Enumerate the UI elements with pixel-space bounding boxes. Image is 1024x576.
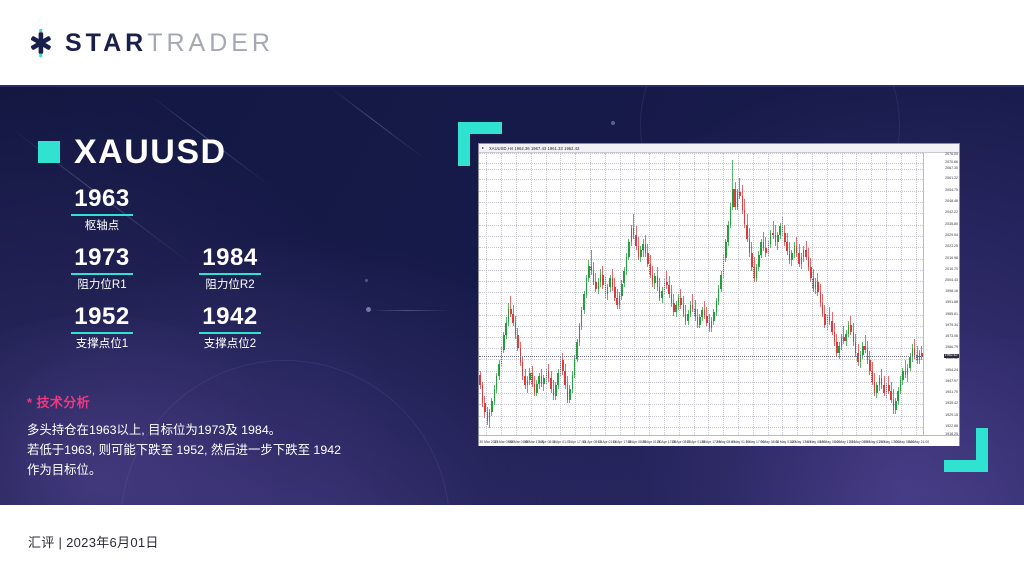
candle-body bbox=[732, 189, 734, 207]
candle-body bbox=[789, 251, 791, 260]
candle-body bbox=[786, 242, 788, 251]
candle-body bbox=[673, 303, 675, 312]
candle-body bbox=[598, 282, 600, 289]
candle-body bbox=[772, 233, 774, 235]
price-axis-tick: 1929.15 bbox=[945, 414, 958, 418]
candle-body bbox=[822, 303, 824, 314]
candle-body bbox=[510, 309, 512, 314]
technical-analysis-line-1: 多头持仓在1963以上, 目标位为1973及 1984。 bbox=[27, 420, 427, 440]
candle-body bbox=[794, 246, 796, 253]
candle-body bbox=[850, 325, 852, 332]
brand-wordmark: STARTRADER bbox=[65, 31, 274, 56]
candle-body bbox=[517, 335, 519, 348]
candle-body bbox=[671, 294, 673, 303]
candle-body bbox=[845, 334, 847, 341]
candle-body bbox=[482, 385, 484, 403]
time-axis-tick: 31 May 21:00 bbox=[909, 441, 930, 444]
candle-body bbox=[874, 382, 876, 393]
pivot-value: 1942 bbox=[166, 304, 294, 329]
time-axis: 30 Mar 202331 Mar 08:003A Mar 01:003B Ma… bbox=[479, 435, 959, 446]
gridline-vertical bbox=[753, 153, 754, 435]
candle-body bbox=[638, 246, 640, 257]
candle-body bbox=[567, 385, 569, 399]
candle-body bbox=[734, 189, 736, 207]
bg-dot-3 bbox=[611, 121, 615, 125]
chart-titlebar: XAUUSD,H4 1962.36 1967.43 1961.33 1962.4… bbox=[479, 144, 959, 153]
candle-wick bbox=[829, 307, 830, 325]
symbol-name: XAUUSD bbox=[74, 135, 227, 169]
price-axis-tick: 1979.34 bbox=[945, 324, 958, 328]
candle-body bbox=[623, 271, 625, 284]
square-marker-icon bbox=[38, 141, 60, 163]
candle-body bbox=[583, 294, 585, 310]
pivot-cell-r2: 1984 阻力位R2 bbox=[166, 245, 294, 293]
candle-body bbox=[808, 257, 810, 268]
pivot-row-main: 1963 枢轴点 bbox=[38, 186, 338, 234]
candle-body bbox=[765, 248, 767, 253]
gridline-vertical bbox=[886, 153, 887, 435]
candle-body bbox=[631, 228, 633, 242]
price-axis-tick: 1991.88 bbox=[945, 301, 958, 305]
candle-body bbox=[760, 242, 762, 255]
candle-body bbox=[538, 376, 540, 383]
price-axis-tick: 2029.54 bbox=[945, 234, 958, 238]
candle-body bbox=[496, 376, 498, 389]
candle-body bbox=[527, 380, 529, 385]
price-axis-tick: 1954.24 bbox=[945, 369, 958, 373]
price-axis-tick: 1966.79 bbox=[945, 346, 958, 350]
candle-body bbox=[881, 378, 883, 385]
candle-body bbox=[730, 207, 732, 225]
candle-body bbox=[883, 385, 885, 392]
candle-body bbox=[555, 385, 557, 396]
gridline-vertical bbox=[812, 153, 813, 435]
price-axis-tick: 2004.43 bbox=[945, 279, 958, 283]
candle-body bbox=[749, 239, 751, 253]
candle-body bbox=[820, 292, 822, 303]
candle-body bbox=[479, 375, 481, 386]
candle-body bbox=[564, 371, 566, 385]
gridline-vertical bbox=[486, 153, 487, 435]
brand-name-light: TRADER bbox=[147, 29, 274, 57]
chart-plot-wrap: 2076.002070.662067.302061.222054.752048.… bbox=[479, 153, 959, 446]
candle-body bbox=[543, 378, 545, 383]
gridline-vertical bbox=[620, 153, 621, 435]
price-axis-tick: 2042.22 bbox=[945, 211, 958, 215]
price-axis-tick: 1922.88 bbox=[945, 425, 958, 429]
candle-body bbox=[690, 305, 692, 314]
candle-body bbox=[779, 226, 781, 235]
gridline-vertical bbox=[531, 153, 532, 435]
candle-body bbox=[746, 225, 748, 239]
price-axis-tick: 2070.66 bbox=[945, 161, 958, 165]
candle-body bbox=[505, 323, 507, 336]
candle-body bbox=[798, 253, 800, 264]
candle-body bbox=[727, 225, 729, 243]
candle-body bbox=[775, 235, 777, 242]
gridline-vertical bbox=[501, 153, 502, 435]
candle-body bbox=[614, 287, 616, 298]
candle-body bbox=[657, 276, 659, 287]
candle-body bbox=[661, 291, 663, 298]
candle-body bbox=[907, 368, 909, 375]
price-axis-tick: 2010.70 bbox=[945, 268, 958, 272]
candle-body bbox=[687, 314, 689, 321]
candle-body bbox=[834, 332, 836, 343]
candle-wick bbox=[865, 335, 866, 353]
candle-body bbox=[600, 275, 602, 282]
price-axis-tick: 2048.48 bbox=[945, 200, 958, 204]
candle-body bbox=[642, 244, 644, 249]
candle-body bbox=[824, 314, 826, 325]
pivot-label: 支撑点位2 bbox=[166, 338, 294, 352]
candle-body bbox=[621, 284, 623, 297]
technical-analysis: * 技术分析 多头持仓在1963以上, 目标位为1973及 1984。 若低于1… bbox=[27, 392, 427, 480]
candle-body bbox=[697, 317, 699, 324]
bg-streak-3 bbox=[330, 87, 426, 160]
gridline-vertical bbox=[679, 153, 680, 435]
price-axis-tick: 1941.70 bbox=[945, 391, 958, 395]
price-axis-tick: 1985.61 bbox=[945, 313, 958, 317]
gridline-vertical bbox=[708, 153, 709, 435]
price-axis-tick: 2061.22 bbox=[945, 177, 958, 181]
candle-body bbox=[744, 210, 746, 224]
candle-body bbox=[763, 242, 765, 247]
candle-body bbox=[593, 271, 595, 282]
candle-body bbox=[711, 321, 713, 328]
pivot-cell-s2: 1942 支撑点位2 bbox=[166, 304, 294, 352]
technical-analysis-line-3: 作为目标位。 bbox=[27, 460, 427, 480]
technical-analysis-title: * 技术分析 bbox=[27, 392, 427, 411]
candle-body bbox=[524, 376, 526, 385]
price-axis-tick: 1973.06 bbox=[945, 335, 958, 339]
candle-body bbox=[831, 321, 833, 332]
candle-body bbox=[890, 391, 892, 400]
candle-body bbox=[718, 289, 720, 302]
pivot-row-support: 1952 支撑点位1 1942 支撑点位2 bbox=[38, 304, 338, 352]
candle-body bbox=[699, 317, 701, 324]
candle-body bbox=[725, 242, 727, 258]
gridline-vertical bbox=[634, 153, 635, 435]
candle-body bbox=[864, 346, 866, 350]
candle-body bbox=[701, 310, 703, 317]
candle-body bbox=[720, 275, 722, 289]
gridline-vertical bbox=[723, 153, 724, 435]
candle-body bbox=[791, 253, 793, 260]
price-axis-tick: 2054.75 bbox=[945, 189, 958, 193]
candle-body bbox=[557, 373, 559, 386]
candle-body bbox=[897, 391, 899, 402]
pivot-value: 1963 bbox=[38, 186, 166, 211]
page-footer: 汇评 | 2023年6月01日 bbox=[0, 505, 1024, 576]
candle-body bbox=[548, 371, 550, 378]
candle-body bbox=[534, 384, 536, 393]
candle-body bbox=[609, 278, 611, 287]
candle-body bbox=[879, 378, 881, 385]
price-chart-panel[interactable]: XAUUSD,H4 1962.36 1967.43 1961.33 1962.4… bbox=[478, 143, 960, 446]
candle-body bbox=[704, 310, 706, 315]
candle-body bbox=[895, 401, 897, 410]
brand-name-bold: STAR bbox=[65, 29, 147, 57]
pivot-cell-pivot: 1963 枢轴点 bbox=[38, 186, 166, 234]
pivot-row-resistance: 1973 阻力位R1 1984 阻力位R2 bbox=[38, 245, 338, 293]
candle-body bbox=[683, 305, 685, 314]
bg-dot-1 bbox=[366, 307, 371, 312]
gridline-vertical bbox=[768, 153, 769, 435]
gridline-vertical bbox=[560, 153, 561, 435]
pivot-cell-r1: 1973 阻力位R1 bbox=[38, 245, 166, 293]
gridline-vertical bbox=[797, 153, 798, 435]
candle-body bbox=[522, 362, 524, 376]
price-axis-tick: 2076.00 bbox=[945, 153, 958, 157]
candle-body bbox=[635, 235, 637, 246]
candle-body bbox=[848, 325, 850, 334]
candle-body bbox=[645, 244, 647, 253]
pivot-label: 阻力位R2 bbox=[166, 279, 294, 293]
price-axis-tick: 1947.97 bbox=[945, 380, 958, 384]
collapse-triangle-icon[interactable] bbox=[482, 147, 484, 149]
candle-body bbox=[595, 282, 597, 289]
candle-body bbox=[801, 257, 803, 264]
pivot-underline bbox=[199, 273, 261, 275]
technical-analysis-line-2: 若低于1963, 则可能下跌至 1952, 然后进一步下跌至 1942 bbox=[27, 440, 427, 460]
star-asterisk-icon bbox=[26, 28, 56, 58]
candle-body bbox=[770, 233, 772, 244]
current-price-label: 1962.42 bbox=[944, 354, 959, 359]
candle-body bbox=[640, 250, 642, 257]
candle-body bbox=[853, 332, 855, 343]
gridline-vertical bbox=[782, 153, 783, 435]
gridline-vertical bbox=[901, 153, 902, 435]
candle-body bbox=[909, 357, 911, 368]
candle-body bbox=[616, 298, 618, 305]
candlestick-plot[interactable] bbox=[479, 153, 923, 435]
bg-streak-4 bbox=[372, 310, 450, 311]
candle-body bbox=[815, 282, 817, 289]
candle-body bbox=[666, 282, 668, 286]
price-axis: 2076.002070.662067.302061.222054.752048.… bbox=[923, 153, 959, 435]
candle-body bbox=[675, 305, 677, 312]
candle-body bbox=[569, 389, 571, 400]
candle-body bbox=[742, 196, 744, 210]
candle-body bbox=[602, 275, 604, 286]
page-header: STARTRADER bbox=[0, 0, 1024, 85]
candle-body bbox=[713, 312, 715, 321]
gridline-vertical bbox=[516, 153, 517, 435]
candle-body bbox=[680, 298, 682, 305]
gridline-vertical bbox=[856, 153, 857, 435]
candle-body bbox=[607, 287, 609, 294]
bg-dot-2 bbox=[365, 279, 368, 282]
candle-body bbox=[489, 412, 491, 421]
candle-body bbox=[838, 346, 840, 353]
candle-body bbox=[784, 233, 786, 242]
gridline-vertical bbox=[842, 153, 843, 435]
candle-body bbox=[491, 401, 493, 412]
candle-body bbox=[572, 375, 574, 389]
candle-body bbox=[843, 337, 845, 341]
price-axis-tick: 2023.25 bbox=[945, 245, 958, 249]
pivot-label: 支撑点位1 bbox=[38, 338, 166, 352]
candle-wick bbox=[510, 296, 511, 317]
candle-body bbox=[857, 353, 859, 362]
gridline-vertical bbox=[605, 153, 606, 435]
footer-caption: 汇评 | 2023年6月01日 bbox=[28, 532, 159, 551]
gridline-vertical bbox=[575, 153, 576, 435]
pivot-underline bbox=[71, 214, 133, 216]
candle-body bbox=[777, 235, 779, 242]
candle-body bbox=[652, 275, 654, 284]
candle-body bbox=[581, 310, 583, 326]
candle-body bbox=[579, 326, 581, 342]
candle-body bbox=[829, 317, 831, 321]
candle-body bbox=[550, 378, 552, 389]
pivot-underline bbox=[71, 273, 133, 275]
pivot-value: 1984 bbox=[166, 245, 294, 270]
candle-body bbox=[654, 276, 656, 283]
price-axis-tick: 2067.30 bbox=[945, 167, 958, 171]
candle-body bbox=[668, 285, 670, 294]
gridline-vertical bbox=[649, 153, 650, 435]
current-price-line bbox=[479, 356, 923, 357]
pivot-levels: 1963 枢轴点 1973 阻力位R1 1984 阻力位R2 1952 支撑点位… bbox=[38, 186, 338, 352]
candle-body bbox=[685, 314, 687, 321]
candle-body bbox=[905, 371, 907, 375]
slide-root: STARTRADER XAUUSD 1963 枢轴点 bbox=[0, 0, 1024, 576]
brand-logo: STARTRADER bbox=[26, 28, 274, 58]
pivot-cell-s1: 1952 支撑点位1 bbox=[38, 304, 166, 352]
price-axis-tick: 2016.98 bbox=[945, 257, 958, 261]
price-axis-tick: 1998.16 bbox=[945, 290, 958, 294]
gridline-vertical bbox=[827, 153, 828, 435]
pivot-value: 1952 bbox=[38, 304, 166, 329]
candle-body bbox=[536, 384, 538, 393]
candle-body bbox=[626, 257, 628, 271]
candle-body bbox=[758, 255, 760, 268]
pivot-underline bbox=[199, 332, 261, 334]
candle-body bbox=[862, 346, 864, 355]
candle-body bbox=[836, 342, 838, 353]
pivot-label: 枢轴点 bbox=[38, 220, 166, 234]
gridline-vertical bbox=[871, 153, 872, 435]
candle-body bbox=[739, 192, 741, 196]
candle-body bbox=[520, 348, 522, 362]
candle-body bbox=[503, 335, 505, 349]
candle-body bbox=[612, 278, 614, 287]
candle-wick bbox=[666, 271, 667, 289]
candle-body bbox=[494, 389, 496, 402]
candle-wick bbox=[739, 178, 740, 199]
candle-body bbox=[803, 250, 805, 257]
candle-body bbox=[498, 364, 500, 377]
chart-title: XAUUSD,H4 1962.36 1967.43 1961.33 1962.4… bbox=[489, 145, 579, 153]
gridline-vertical bbox=[694, 153, 695, 435]
price-axis-tick: 1935.42 bbox=[945, 402, 958, 406]
candle-body bbox=[659, 287, 661, 298]
candle-body bbox=[888, 385, 890, 390]
candle-body bbox=[876, 385, 878, 392]
candle-body bbox=[817, 282, 819, 293]
candle-body bbox=[893, 400, 895, 411]
pivot-label: 阻力位R1 bbox=[38, 279, 166, 293]
gridline-vertical bbox=[738, 153, 739, 435]
candle-wick bbox=[773, 221, 774, 239]
candle-body bbox=[756, 267, 758, 278]
candle-wick bbox=[843, 326, 844, 344]
gridline-vertical bbox=[664, 153, 665, 435]
candle-wick bbox=[905, 360, 906, 378]
candle-body bbox=[512, 314, 514, 323]
price-axis-tick: 2035.80 bbox=[945, 223, 958, 227]
candle-body bbox=[586, 278, 588, 294]
candle-body bbox=[562, 360, 564, 371]
pivot-value: 1973 bbox=[38, 245, 166, 270]
candle-body bbox=[805, 250, 807, 257]
symbol-heading: XAUUSD bbox=[38, 135, 227, 169]
candle-body bbox=[628, 242, 630, 256]
gridline-vertical bbox=[590, 153, 591, 435]
gridline-vertical bbox=[546, 153, 547, 435]
candle-body bbox=[508, 309, 510, 323]
candle-body bbox=[553, 389, 555, 396]
candle-body bbox=[902, 371, 904, 380]
pivot-underline bbox=[71, 332, 133, 334]
gridline-vertical bbox=[916, 153, 917, 435]
candle-body bbox=[716, 301, 718, 312]
candle-body bbox=[867, 350, 869, 361]
candle-body bbox=[541, 376, 543, 383]
